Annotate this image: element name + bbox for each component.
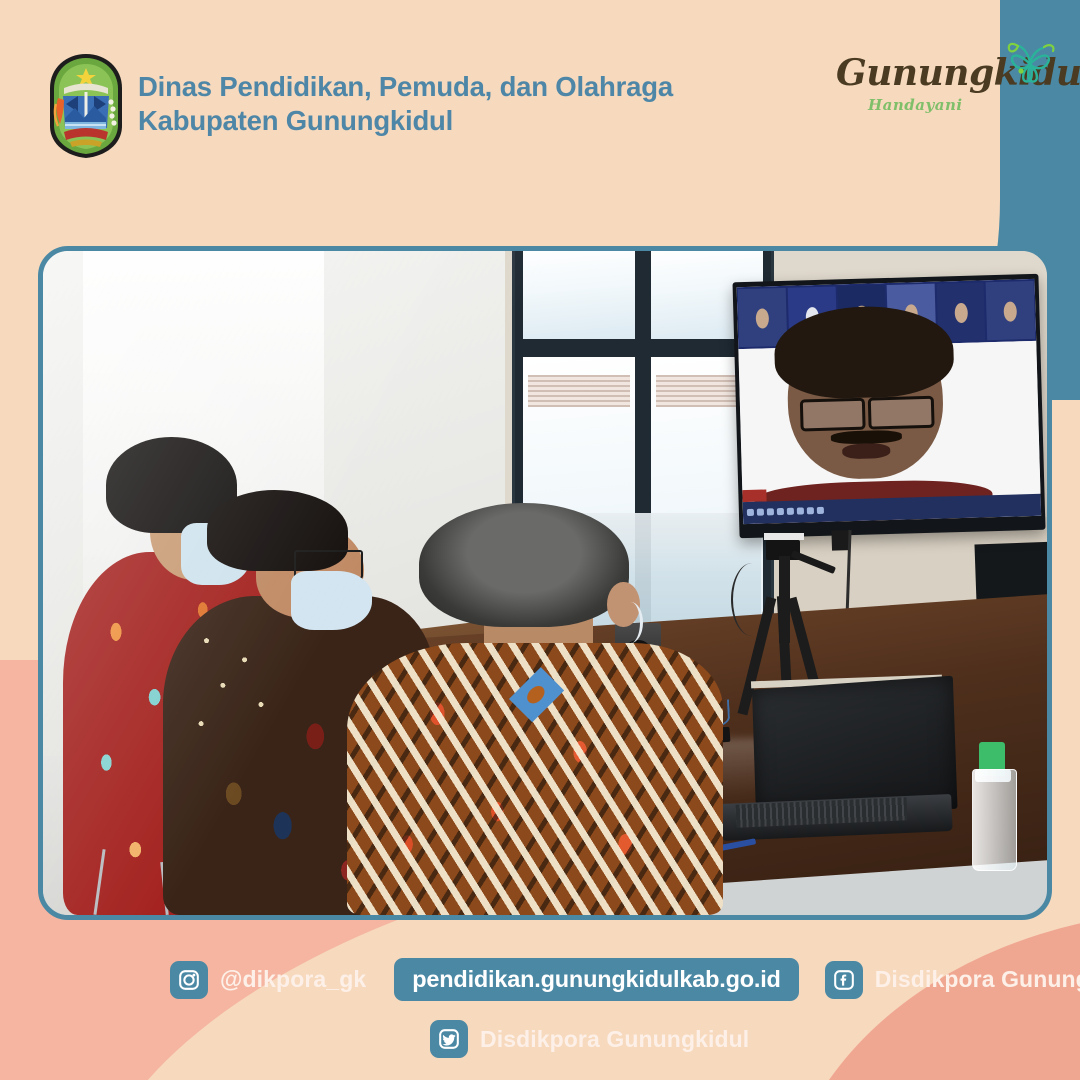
footer-row-twitter: Disdikpora Gunungkidul (430, 1020, 749, 1058)
video-recording-indicator (742, 489, 766, 501)
gunungkidul-regency-crest-icon (44, 52, 128, 160)
org-title-line-2: Kabupaten Gunungkidul (138, 104, 798, 138)
video-conference-screen (737, 279, 1041, 524)
brand-tagline: Handayani (868, 96, 963, 114)
speaker-mouth (842, 442, 890, 459)
wall-television (732, 273, 1045, 537)
gunungkidul-brand-logo: Gunungkidul Handayani (836, 44, 1066, 136)
face-mask-strap (618, 602, 643, 643)
butterfly-flourish-icon (1000, 34, 1060, 92)
window-pane (523, 251, 636, 339)
hand-sanitizer-bottle (972, 769, 1017, 871)
instagram-handle: @dikpora_gk (220, 966, 366, 993)
org-title-line-1: Dinas Pendidikan, Pemuda, dan Olahraga (138, 71, 673, 102)
poster-header: Dinas Pendidikan, Pemuda, dan Olahraga K… (0, 0, 1080, 230)
attendee-hair (419, 503, 629, 627)
website-url-pill[interactable]: pendidikan.gunungkidulkab.go.id (394, 958, 798, 1001)
footer-row-primary: @dikpora_gk pendidikan.gunungkidulkab.go… (170, 958, 1080, 1001)
social-media-poster: Dinas Pendidikan, Pemuda, dan Olahraga K… (0, 0, 1080, 1080)
twitter-account-name: Disdikpora Gunungkidul (480, 1026, 749, 1053)
speaker-moustache (830, 430, 902, 444)
facebook-page-name: Disdikpora Gunungkidul (875, 966, 1080, 993)
meeting-photo (43, 251, 1047, 915)
speaker-glasses-left (799, 397, 865, 431)
facebook-icon[interactable] (825, 961, 863, 999)
window-blind (528, 375, 630, 407)
meeting-photo-frame (38, 246, 1052, 920)
poster-footer: @dikpora_gk pendidikan.gunungkidulkab.go… (0, 940, 1080, 1080)
twitter-icon[interactable] (430, 1020, 468, 1058)
speaker-glasses-right (868, 395, 934, 429)
website-url: pendidikan.gunungkidulkab.go.id (412, 966, 780, 992)
laptop-screen (752, 675, 957, 809)
participant-thumbnail (986, 281, 1035, 340)
page-title: Dinas Pendidikan, Pemuda, dan Olahraga K… (138, 70, 798, 137)
attendee-orange-batik (354, 503, 715, 915)
instagram-icon[interactable] (170, 961, 208, 999)
